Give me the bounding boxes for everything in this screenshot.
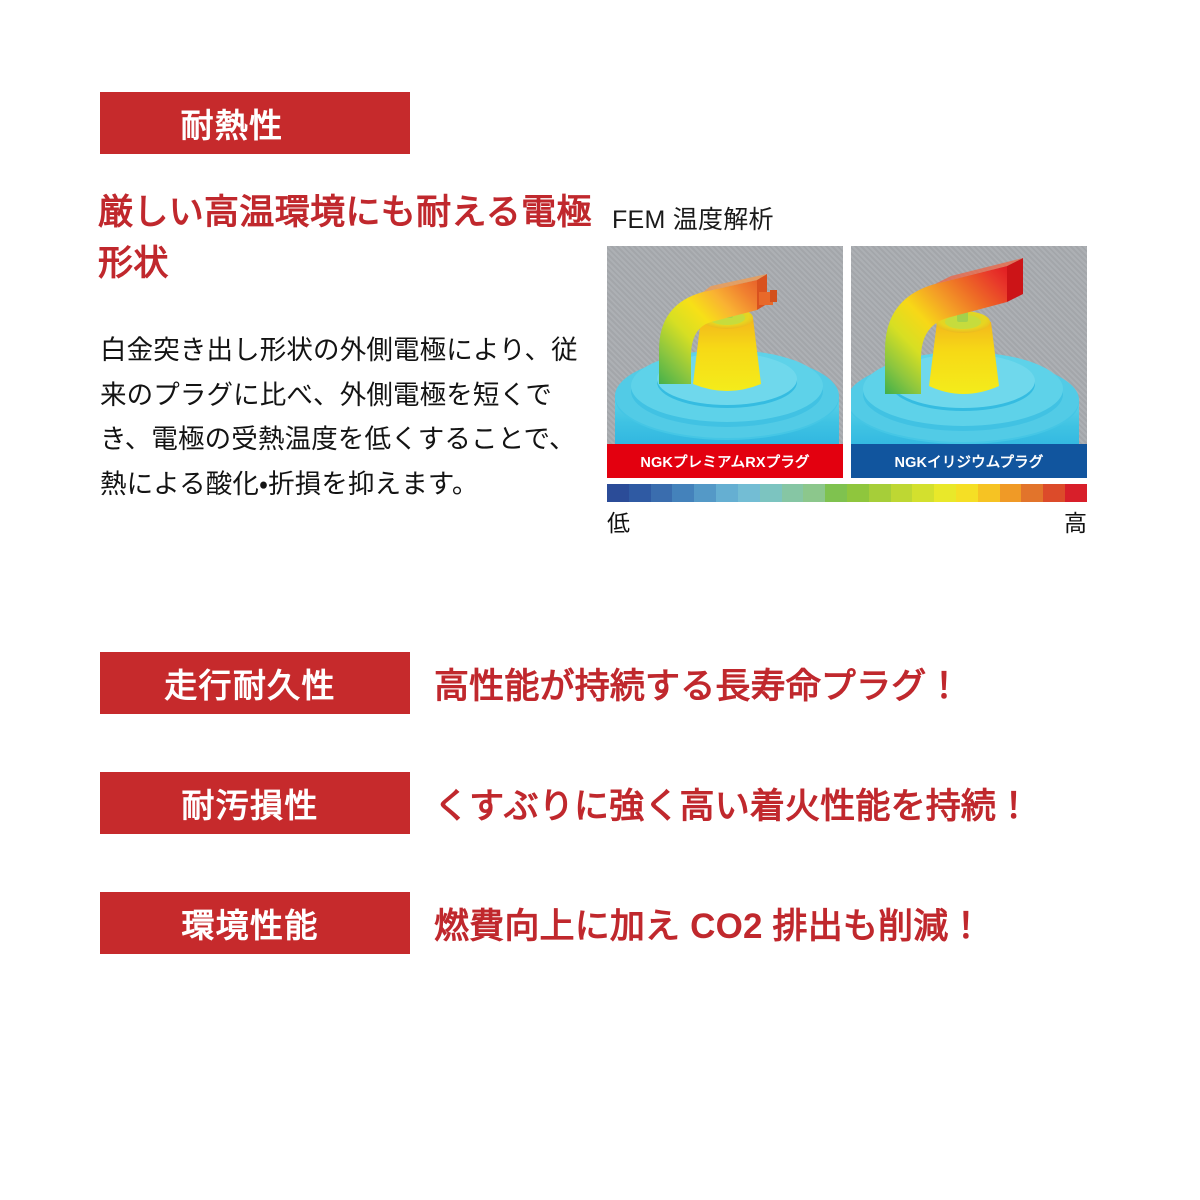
fem-legend-color-band-11 xyxy=(847,484,869,502)
fem-legend-color-band-21 xyxy=(1065,484,1087,502)
heat-resistance-badge-label: 耐熱性 xyxy=(181,99,284,147)
fem-legend-color-band-17 xyxy=(978,484,1000,502)
feature-badge-fouling-resistance: 耐汚損性 xyxy=(100,772,410,834)
fem-legend-color-band-4 xyxy=(694,484,716,502)
fem-legend: 低 高 xyxy=(607,484,1087,538)
feature-badge-label: 走行耐久性 xyxy=(164,659,336,707)
feature-row-durability: 走行耐久性 高性能が持続する長寿命プラグ！ xyxy=(100,652,1100,714)
fem-panel-premium-rx: NGKプレミアムRXプラグ xyxy=(607,246,843,478)
fem-legend-color-band-0 xyxy=(607,484,629,502)
fem-legend-labels: 低 高 xyxy=(607,504,1087,538)
feature-badge-label: 耐汚損性 xyxy=(181,779,318,827)
fem-legend-color-band-2 xyxy=(651,484,673,502)
fem-legend-color-band-19 xyxy=(1021,484,1043,502)
fem-legend-color-band-1 xyxy=(629,484,651,502)
fem-legend-low-label: 低 xyxy=(607,504,630,538)
fem-caption-premium-rx: NGKプレミアムRXプラグ xyxy=(607,444,843,478)
feature-badge-label: 環境性能 xyxy=(181,899,318,947)
heat-resistance-headline: 厳しい高温環境にも耐える電極形状 xyxy=(98,188,598,290)
fem-legend-color-band-10 xyxy=(825,484,847,502)
fem-analysis-block: FEM 温度解析 xyxy=(607,200,1087,538)
fem-legend-color-band-8 xyxy=(782,484,804,502)
fem-legend-high-label: 高 xyxy=(1064,504,1087,538)
fem-panel-iridium: NGKイリジウムプラグ xyxy=(851,246,1087,478)
fem-legend-color-band-16 xyxy=(956,484,978,502)
fem-legend-color-band-15 xyxy=(934,484,956,502)
fem-legend-color-band-20 xyxy=(1043,484,1065,502)
fem-legend-color-band-18 xyxy=(1000,484,1022,502)
heat-resistance-body-text: 白金突き出し形状の外側電極により、従来のプラグに比べ、外側電極を短くでき、電極の… xyxy=(100,328,584,506)
feature-text-fouling-resistance: くすぶりに強く高い着火性能を持続！ xyxy=(434,778,1031,829)
feature-row-fouling-resistance: 耐汚損性 くすぶりに強く高い着火性能を持続！ xyxy=(100,772,1100,834)
fem-legend-color-band-14 xyxy=(912,484,934,502)
fem-analysis-title: FEM 温度解析 xyxy=(612,200,1087,236)
feature-badge-environmental: 環境性能 xyxy=(100,892,410,954)
feature-text-environmental: 燃費向上に加え CO2 排出も削減！ xyxy=(434,898,984,949)
fem-legend-color-band-3 xyxy=(672,484,694,502)
fem-legend-colorbar xyxy=(607,484,1087,502)
fem-panel-group: NGKプレミアムRXプラグ xyxy=(607,246,1087,478)
feature-row-environmental: 環境性能 燃費向上に加え CO2 排出も削減！ xyxy=(100,892,1100,954)
fem-legend-color-band-12 xyxy=(869,484,891,502)
fem-legend-color-band-9 xyxy=(803,484,825,502)
fem-legend-color-band-5 xyxy=(716,484,738,502)
feature-text-durability: 高性能が持続する長寿命プラグ！ xyxy=(434,658,962,709)
heat-resistance-section: 耐熱性 厳しい高温環境にも耐える電極形状 白金突き出し形状の外側電極により、従来… xyxy=(0,0,1200,600)
heat-resistance-badge: 耐熱性 xyxy=(100,92,410,154)
feature-badge-durability: 走行耐久性 xyxy=(100,652,410,714)
fem-legend-color-band-7 xyxy=(760,484,782,502)
fem-legend-color-band-6 xyxy=(738,484,760,502)
fem-legend-color-band-13 xyxy=(891,484,913,502)
fem-caption-iridium: NGKイリジウムプラグ xyxy=(851,444,1087,478)
